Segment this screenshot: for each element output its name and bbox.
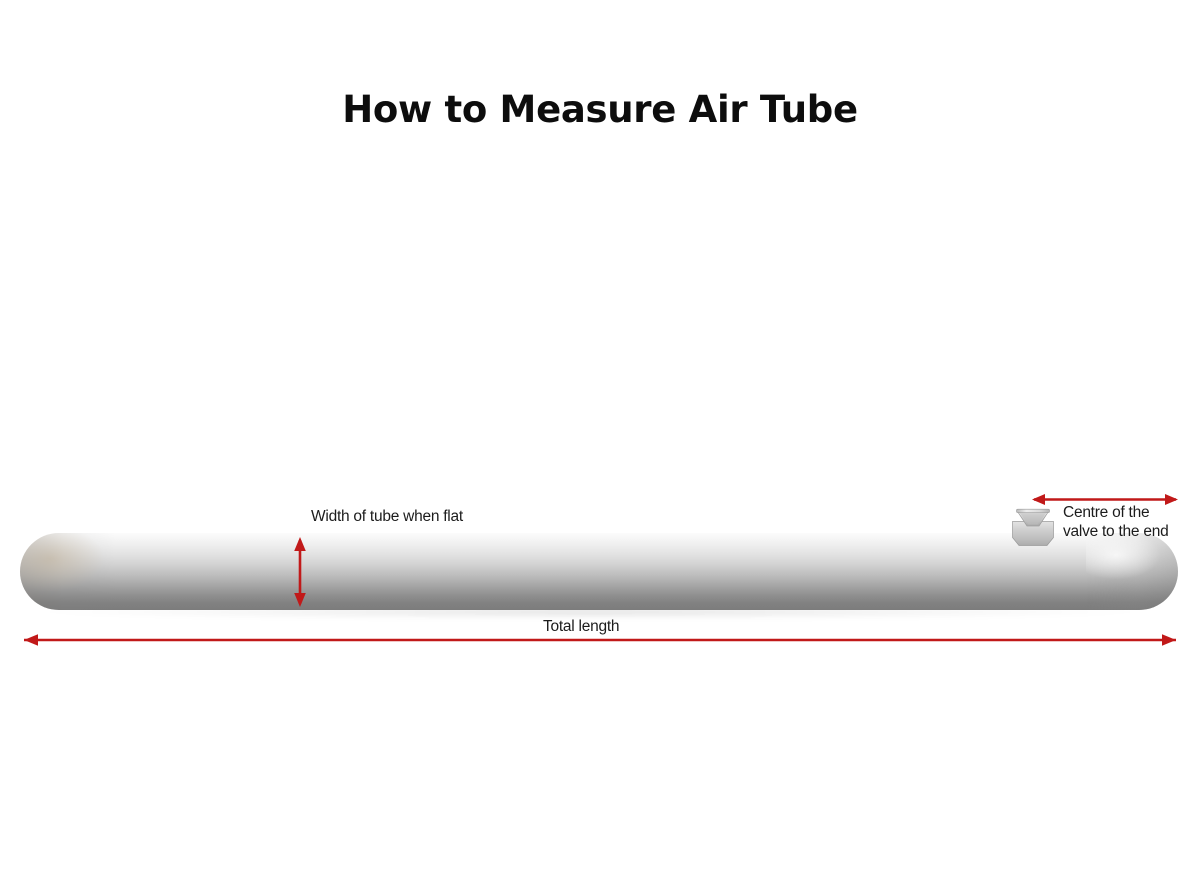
tube-width-label: Width of tube when flat bbox=[311, 508, 463, 526]
valve-to-end-label: Centre of thevalve to the end bbox=[1063, 503, 1188, 541]
valve-to-end-label-line-2: valve to the end bbox=[1063, 522, 1188, 541]
air-tube-left-end-cap bbox=[20, 533, 116, 610]
page-title: How to Measure Air Tube bbox=[0, 88, 1200, 131]
air-tube-right-end-cap bbox=[1086, 533, 1178, 610]
valve-to-end-label-line-1: Centre of the bbox=[1063, 504, 1149, 521]
tube-width-dimension-arrow bbox=[291, 533, 309, 611]
total-length-label: Total length bbox=[543, 618, 619, 636]
air-tube-illustration bbox=[20, 533, 1178, 610]
valve-icon bbox=[1010, 506, 1056, 548]
air-tube-body bbox=[20, 533, 1178, 610]
